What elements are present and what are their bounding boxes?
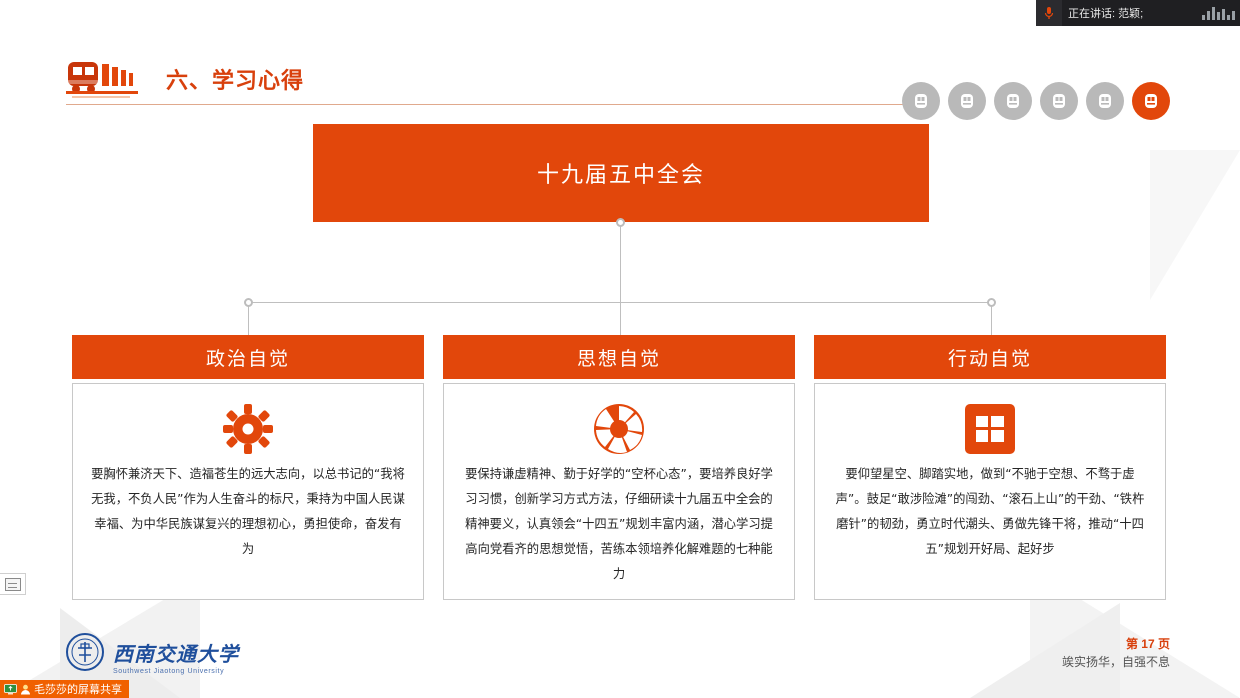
card-body-text: 要仰望星空、脚踏实地，做到“不驰于空想、不骛于虚声”。鼓足“敢涉险滩”的闯劲、“… — [833, 462, 1147, 562]
panel-list-icon[interactable] — [0, 573, 26, 595]
decorative-triangle — [1150, 150, 1240, 300]
card-body: 要仰望星空、脚踏实地，做到“不驰于空想、不骛于虚声”。鼓足“敢涉险滩”的闯劲、“… — [814, 383, 1166, 600]
section-dot-3[interactable] — [994, 82, 1032, 120]
gear-icon — [221, 402, 275, 456]
page-title: 六、学习心得 — [166, 63, 304, 95]
panel-lines-glyph — [5, 578, 21, 591]
presenter-icon — [20, 684, 31, 695]
section-dot-2[interactable] — [948, 82, 986, 120]
section-dot-5[interactable] — [1086, 82, 1124, 120]
header-divider — [66, 104, 916, 105]
university-seal-icon — [66, 633, 104, 671]
card-heading-label: 行动自觉 — [948, 344, 1032, 371]
share-status-label: 毛莎莎的屏幕共享 — [34, 681, 122, 697]
card-body: 要胸怀兼济天下、造福苍生的远大志向，以总书记的“我将无我，不负人民”作为人生奋斗… — [72, 383, 424, 600]
section-dot-1[interactable] — [902, 82, 940, 120]
card-action-awareness: 行动自觉 要仰望星空、脚踏实地，做到“不驰于空想、不骛于虚声”。鼓足“敢涉险滩”… — [814, 335, 1166, 600]
microphone-icon[interactable] — [1036, 0, 1062, 26]
section-dot-4[interactable] — [1040, 82, 1078, 120]
university-name-cn: 西南交通大学 — [113, 638, 239, 667]
windows-grid-icon — [963, 402, 1017, 456]
university-motto: 竢实扬华，自强不息 — [1062, 653, 1170, 670]
card-ideological-awareness: 思想自觉 要保持谦虚精神、勤于好学的“空杯心态”，要培养良好 — [443, 335, 795, 600]
connector-vertical-main — [620, 222, 621, 302]
audio-wave-icon — [1202, 6, 1240, 20]
section-progress-dots — [902, 82, 1170, 120]
train-logo-icon — [66, 58, 152, 100]
slide-stage: 六、学习心得 十九届五中全会 政治自觉 — [0, 0, 1240, 698]
card-heading: 政治自觉 — [72, 335, 424, 379]
top-node-label: 十九届五中全会 — [537, 157, 705, 189]
connector-node-left — [244, 298, 253, 307]
card-body-text: 要保持谦虚精神、勤于好学的“空杯心态”，要培养良好学习习惯，创新学习方式方法，仔… — [462, 462, 776, 587]
connector-node-right — [987, 298, 996, 307]
screen-share-icon — [4, 684, 17, 695]
zoom-active-speaker-bar[interactable]: 正在讲话: 范颖; — [1036, 0, 1240, 26]
active-speaker-label: 正在讲话: 范颖; — [1062, 5, 1202, 21]
university-name-en: Southwest Jiaotong University — [113, 668, 224, 675]
card-heading-label: 政治自觉 — [206, 344, 290, 371]
section-dot-6-active[interactable] — [1132, 82, 1170, 120]
aperture-icon — [592, 402, 646, 456]
slide-header: 六、学习心得 — [66, 58, 304, 100]
page-number: 第 17 页 — [1126, 635, 1170, 652]
card-heading-label: 思想自觉 — [577, 344, 661, 371]
screen-share-status-bar[interactable]: 毛莎莎的屏幕共享 — [0, 680, 129, 698]
university-logo: 西南交通大学 Southwest Jiaotong University — [66, 633, 239, 671]
decorative-triangle — [970, 603, 1120, 698]
top-node-box: 十九届五中全会 — [313, 124, 929, 222]
card-body-text: 要胸怀兼济天下、造福苍生的远大志向，以总书记的“我将无我，不负人民”作为人生奋斗… — [91, 462, 405, 562]
card-heading: 思想自觉 — [443, 335, 795, 379]
card-body: 要保持谦虚精神、勤于好学的“空杯心态”，要培养良好学习习惯，创新学习方式方法，仔… — [443, 383, 795, 600]
card-political-awareness: 政治自觉 — [72, 335, 424, 600]
card-heading: 行动自觉 — [814, 335, 1166, 379]
connector-node-top — [616, 218, 625, 227]
connector-vertical-center — [620, 302, 621, 335]
